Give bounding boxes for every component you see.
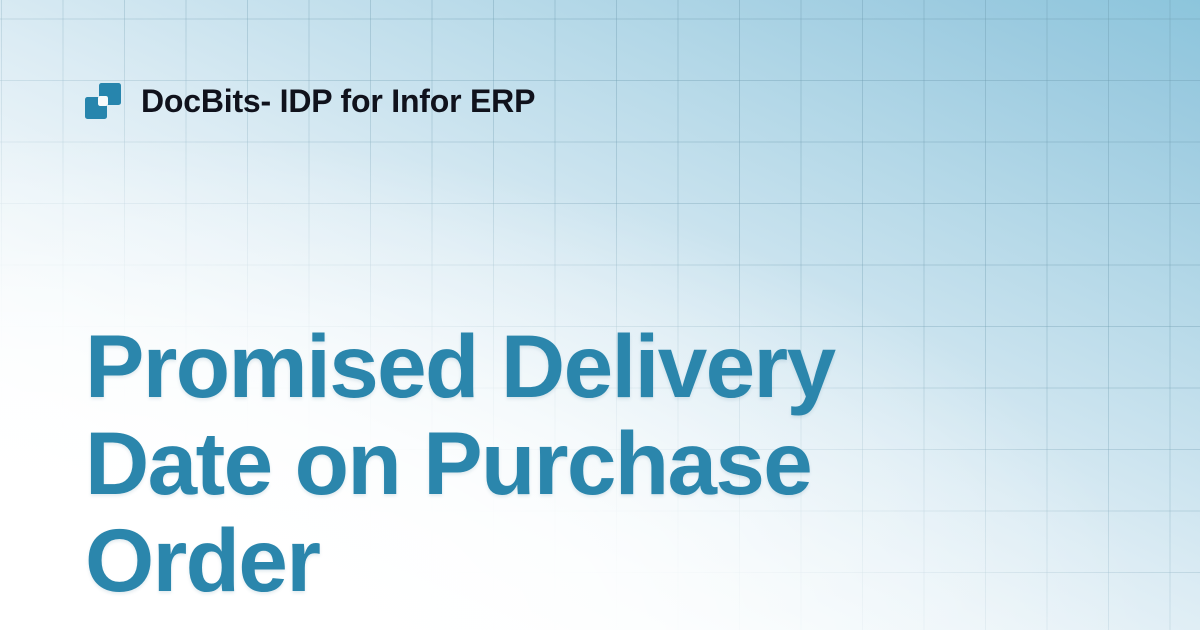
page-title: Promised Delivery Date on Purchase Order (85, 318, 1085, 609)
og-card: DocBits- IDP for Infor ERP Promised Deli… (0, 0, 1200, 630)
brand-title: DocBits- IDP for Infor ERP (141, 85, 535, 117)
page-title-line-3: Order (85, 512, 1085, 609)
brand-header: DocBits- IDP for Infor ERP (85, 79, 535, 123)
docbits-logo-icon (85, 83, 121, 119)
card-content: DocBits- IDP for Infor ERP Promised Deli… (0, 0, 1200, 630)
page-title-line-1: Promised Delivery (85, 318, 1085, 415)
page-title-line-2: Date on Purchase (85, 415, 1085, 512)
